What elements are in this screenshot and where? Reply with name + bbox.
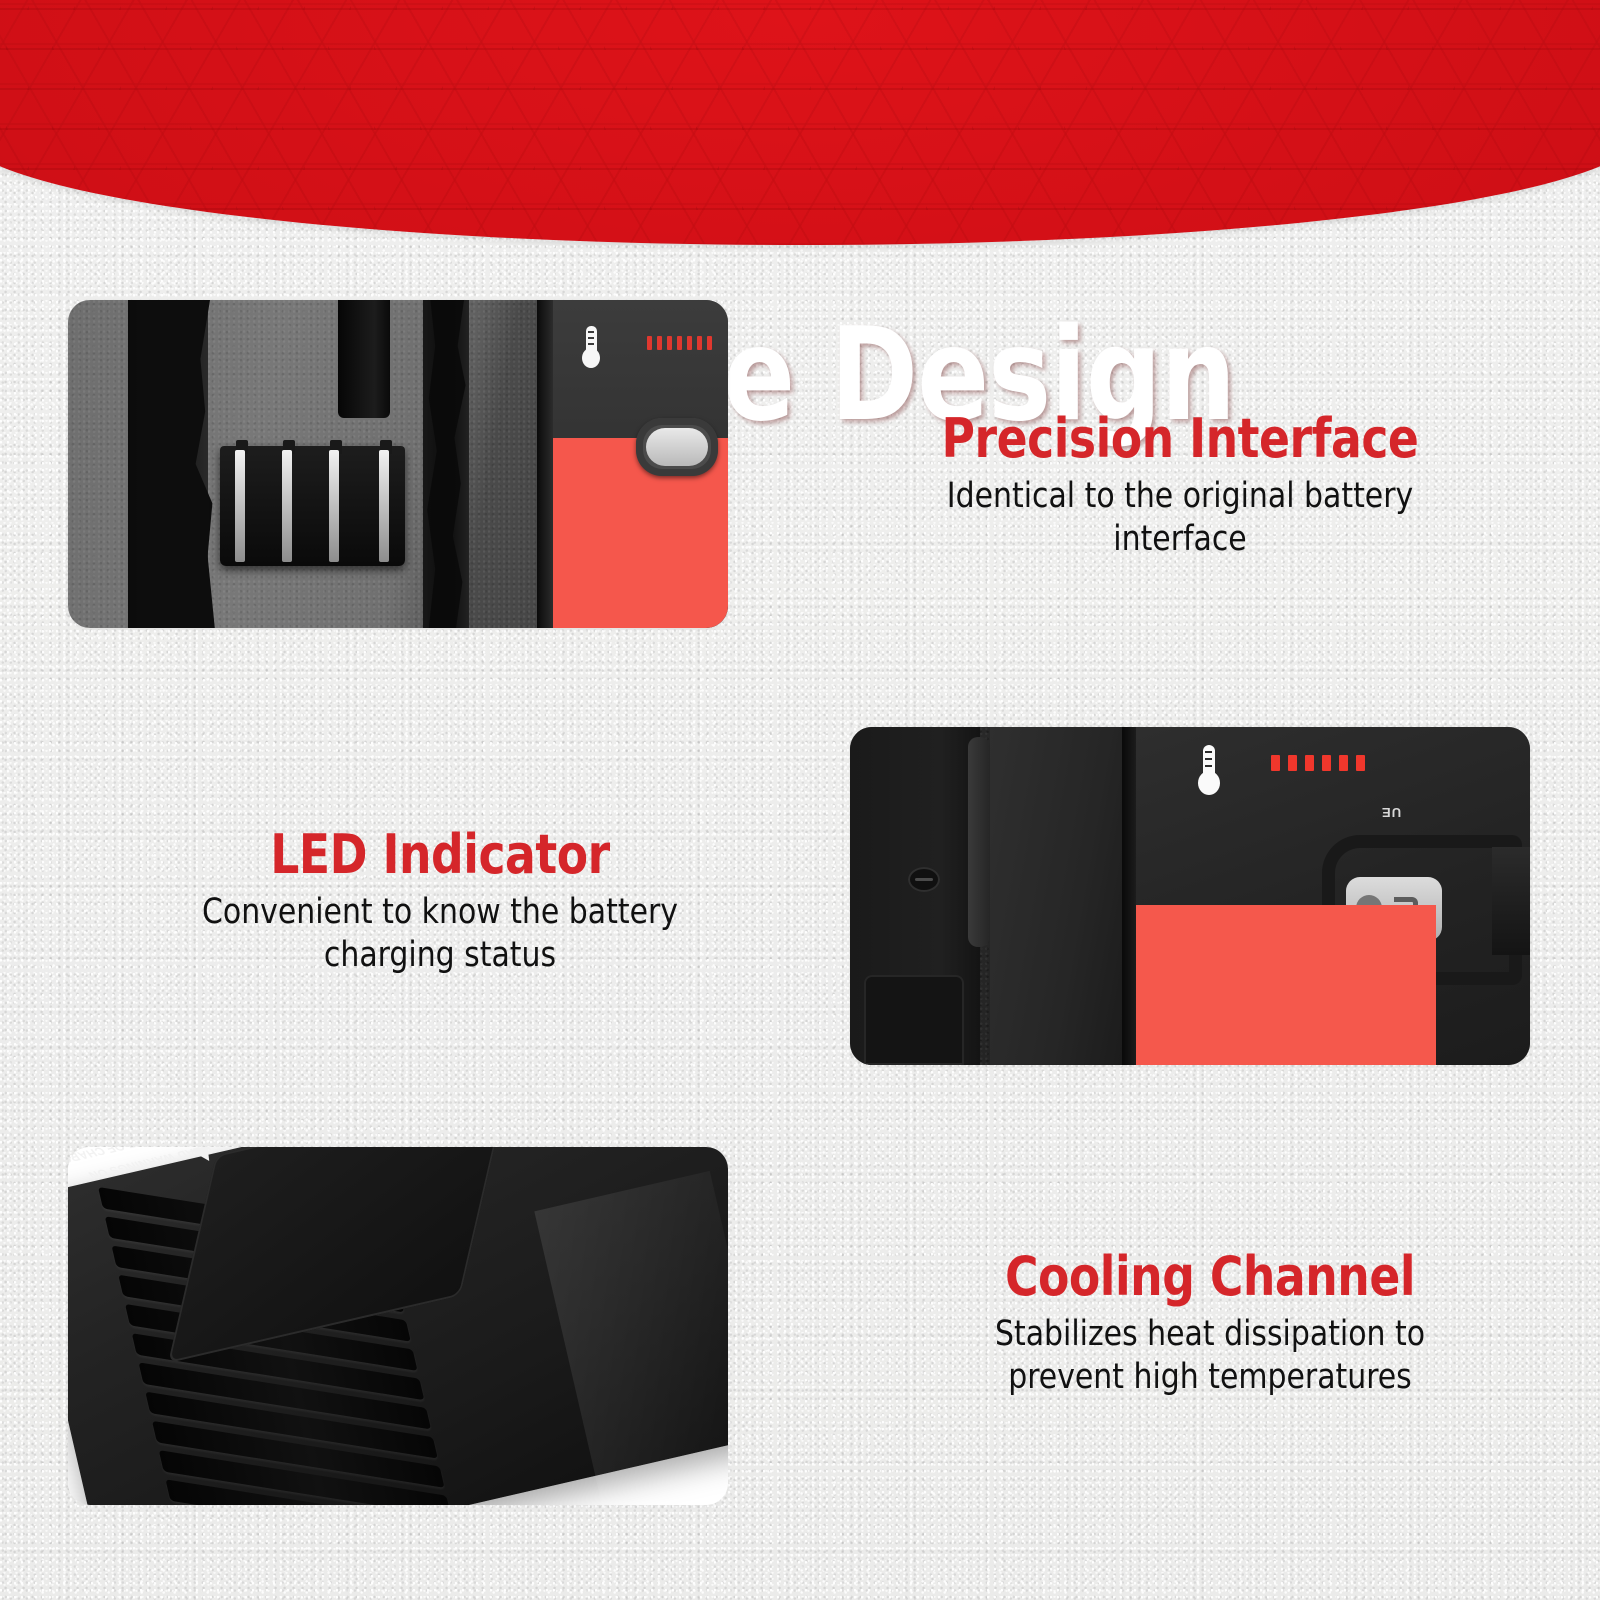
contact-blade [329,450,339,562]
charger-push-button [646,428,708,466]
screw-icon [908,867,940,892]
feature-title: Cooling Channel [919,1248,1502,1305]
marking-text: UE [1381,805,1401,820]
feature-description: Identical to the original battery interf… [876,475,1484,560]
feature-image-led-indicator: UE [850,727,1530,1065]
housing-foot-tab [864,975,964,1065]
contact-blade [379,450,389,562]
housing-groove [1122,727,1136,1065]
thermometer-icon [1198,745,1220,799]
terminal-block [220,446,405,566]
honeycomb-pattern-overlay [0,0,1600,245]
feature-description: Stabilizes heat dissipation to prevent h… [916,1313,1505,1398]
red-accent-panel [1136,905,1436,1065]
contact-blade [235,450,245,562]
thermometer-icon [582,326,600,372]
panel-edge [537,300,553,628]
feature-description: Convenient to know the battery charging … [136,891,744,976]
latch-arm [1492,847,1530,955]
led-indicator-bar [1271,755,1365,771]
feature-image-cooling-channel: READ WARNINGS ON UNDERSIDE OF CHARGER. L… [68,1147,728,1505]
feature-text-led-indicator: LED Indicator Convenient to know the bat… [120,826,760,977]
housing-lip [968,737,990,947]
feature-text-cooling-channel: Cooling Channel Stabilizes heat dissipat… [900,1248,1520,1399]
housing-column [990,727,1130,1065]
feature-title: LED Indicator [139,826,741,883]
header-banner [0,0,1600,245]
feature-image-precision-interface [68,300,728,628]
contact-blade [282,450,292,562]
infographic-page: Precise Design [0,0,1600,1600]
feature-text-precision-interface: Precision Interface Identical to the ori… [860,410,1500,561]
battery-rail-slot [338,300,390,418]
led-indicator-bar [647,336,712,350]
feature-title: Precision Interface [879,410,1481,467]
